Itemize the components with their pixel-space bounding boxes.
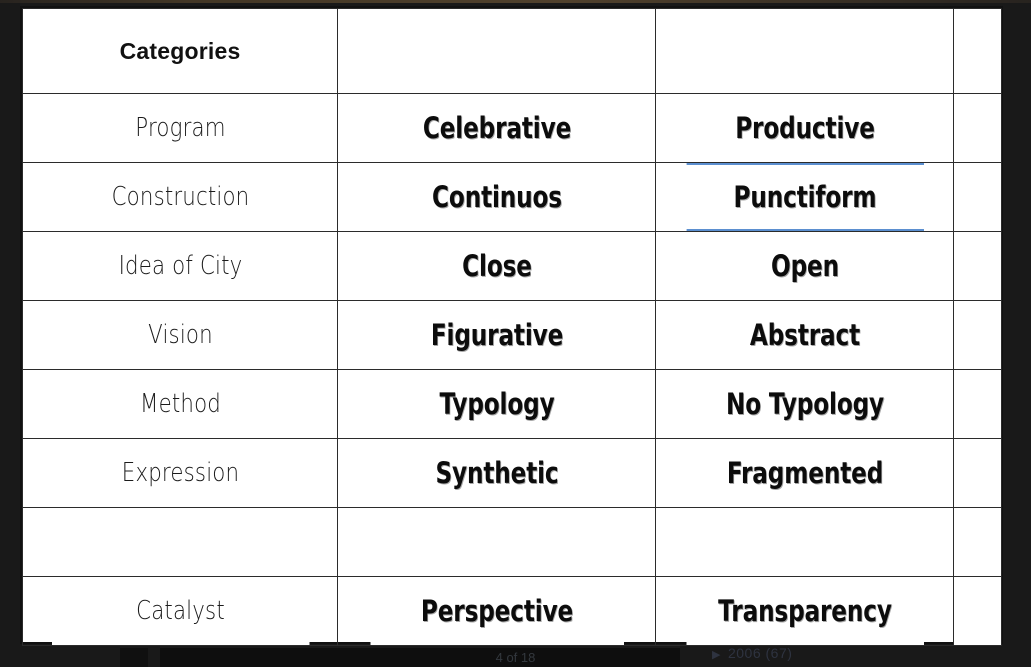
cell-third-wave[interactable]: [954, 439, 1002, 508]
cell-category[interactable]: Vision: [51, 301, 309, 370]
cell-third-wave[interactable]: [954, 94, 1002, 163]
cell-first-wave[interactable]: [369, 508, 623, 577]
cell-second-wave[interactable]: Productive: [685, 94, 923, 163]
cell-first-wave[interactable]: Typology: [369, 370, 623, 439]
cell-second-wave[interactable]: Abstract: [685, 301, 923, 370]
cell-first-wave[interactable]: Close: [369, 232, 623, 301]
cell-second-wave[interactable]: Fragmented: [685, 439, 923, 508]
top-edge-hairline: [0, 0, 1031, 3]
table-row: Idea of City Close Open: [23, 232, 1002, 301]
table-row-empty: [23, 508, 1002, 577]
column-header-second-wave-label: Second Wave: [743, 29, 866, 50]
cell-category[interactable]: Idea of City: [51, 232, 309, 301]
cell-second-wave[interactable]: Transparency: [685, 577, 923, 646]
column-header-first-wave-label: First Wave: [449, 29, 544, 50]
cell-third-wave[interactable]: [954, 508, 1002, 577]
comparison-table-frame: Categories First Wave (agricolture) Seco…: [20, 6, 1003, 644]
cell-first-wave[interactable]: Continuos: [369, 163, 623, 232]
cell-first-wave[interactable]: Celebrative: [369, 94, 623, 163]
table-row: Expression Synthetic Fragmented: [23, 439, 1002, 508]
table-row: Catalyst Perspective Transparency: [23, 577, 1002, 646]
table-row: Vision Figurative Abstract: [23, 301, 1002, 370]
column-header-categories-label: Categories: [120, 38, 241, 64]
cell-third-wave[interactable]: [954, 577, 1002, 646]
cell-category[interactable]: Catalyst: [51, 577, 309, 646]
cell-first-wave[interactable]: Figurative: [369, 301, 623, 370]
cell-category[interactable]: Construction: [51, 163, 309, 232]
cell-category[interactable]: Method: [51, 370, 309, 439]
column-header-first-wave-sublabel: (agricolture): [338, 51, 655, 73]
cell-category[interactable]: Expression: [51, 439, 309, 508]
cell-second-wave[interactable]: No Typology: [685, 370, 923, 439]
column-header-first-wave[interactable]: First Wave (agricolture): [338, 9, 656, 94]
cell-third-wave[interactable]: [954, 232, 1002, 301]
cell-first-wave[interactable]: Synthetic: [369, 439, 623, 508]
cell-category[interactable]: [51, 508, 309, 577]
cell-second-wave[interactable]: Open: [685, 232, 923, 301]
column-header-second-wave[interactable]: Second Wave (Manifacture): [656, 9, 954, 94]
table-row: Program Celebrative Productive: [23, 94, 1002, 163]
cell-first-wave[interactable]: Perspective: [369, 577, 623, 646]
cell-category[interactable]: Program: [51, 94, 309, 163]
cell-second-wave[interactable]: [685, 508, 923, 577]
column-header-second-wave-sublabel: (Manifacture): [656, 51, 953, 73]
cell-third-wave[interactable]: [954, 370, 1002, 439]
table-row: Method Typology No Typology: [23, 370, 1002, 439]
table-header-row: Categories First Wave (agricolture) Seco…: [23, 9, 1002, 94]
cell-third-wave[interactable]: [954, 301, 1002, 370]
waves-comparison-table: Categories First Wave (agricolture) Seco…: [22, 8, 1002, 646]
cell-third-wave[interactable]: [954, 163, 1002, 232]
table-row: Construction Continuos Punctiform: [23, 163, 1002, 232]
cell-second-wave-selected[interactable]: Punctiform: [685, 163, 923, 232]
column-header-categories[interactable]: Categories: [23, 9, 338, 94]
column-header-third-wave[interactable]: [954, 9, 1002, 94]
slide-counter: 4 of 18: [0, 650, 1031, 665]
